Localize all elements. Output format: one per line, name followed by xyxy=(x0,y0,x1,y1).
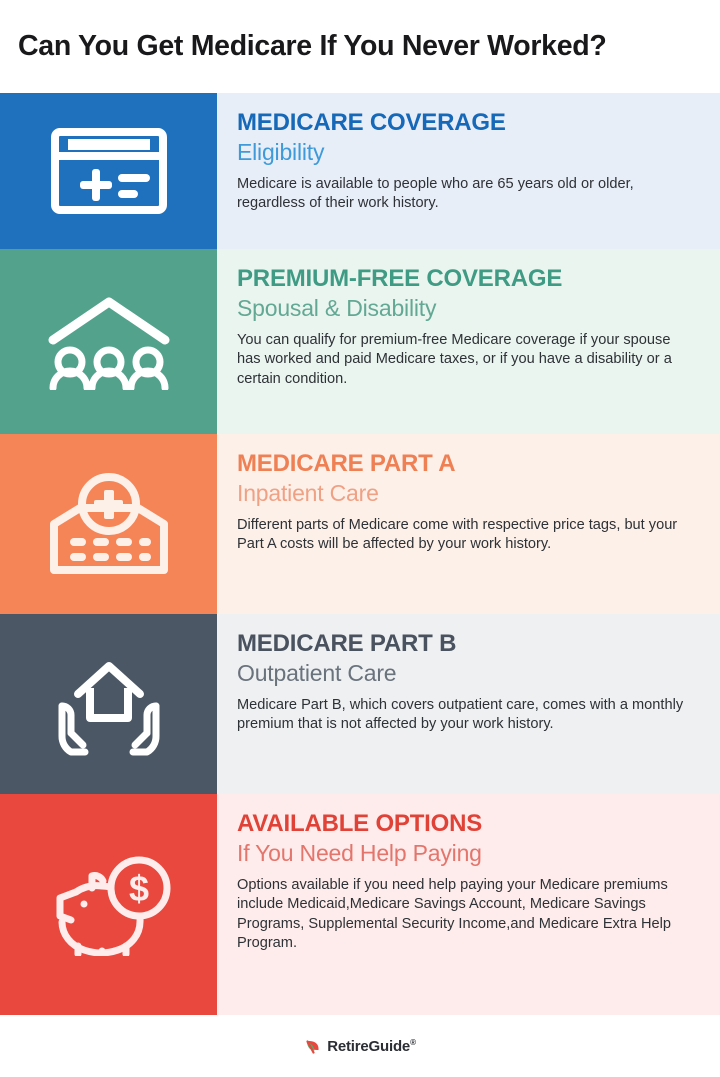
section-subheading-4: If You Need Help Paying xyxy=(237,839,694,867)
section-heading-2: MEDICARE PART A xyxy=(237,451,694,478)
content-panel-1: PREMIUM-FREE COVERAGE Spousal & Disabili… xyxy=(217,249,720,434)
section-subheading-0: Eligibility xyxy=(237,138,694,166)
leaf-icon xyxy=(304,1038,321,1055)
icon-panel-2 xyxy=(0,434,217,614)
infographic-root: Can You Get Medicare If You Never Worked… xyxy=(0,0,720,1077)
content-panel-0: MEDICARE COVERAGE Eligibility Medicare i… xyxy=(217,93,720,249)
section-subheading-3: Outpatient Care xyxy=(237,659,694,687)
icon-panel-1 xyxy=(0,249,217,434)
section-body-0: Medicare is available to people who are … xyxy=(237,175,687,214)
family-under-roof-icon xyxy=(45,294,173,390)
section-body-3: Medicare Part B, which covers outpatient… xyxy=(237,696,687,735)
icon-panel-3 xyxy=(0,614,217,794)
logo-text: RetireGuide® xyxy=(327,1038,416,1055)
icon-panel-0 xyxy=(0,93,217,249)
content-panel-4: AVAILABLE OPTIONS If You Need Help Payin… xyxy=(217,794,720,1015)
page-title: Can You Get Medicare If You Never Worked… xyxy=(18,31,606,62)
section-premium-free-coverage: PREMIUM-FREE COVERAGE Spousal & Disabili… xyxy=(0,249,720,434)
medicare-card-icon xyxy=(50,126,168,216)
retireguide-logo[interactable]: RetireGuide® xyxy=(304,1038,416,1055)
section-heading-0: MEDICARE COVERAGE xyxy=(237,110,694,137)
house-in-hands-icon xyxy=(48,652,170,756)
section-heading-4: AVAILABLE OPTIONS xyxy=(237,811,694,838)
footer: RetireGuide® xyxy=(0,1015,720,1077)
hospital-icon xyxy=(48,472,170,576)
section-medicare-part-a: MEDICARE PART A Inpatient Care Different… xyxy=(0,434,720,614)
piggy-bank-icon: $ xyxy=(46,854,172,956)
icon-panel-4: $ xyxy=(0,794,217,1015)
content-panel-3: MEDICARE PART B Outpatient Care Medicare… xyxy=(217,614,720,794)
registered-mark: ® xyxy=(410,1038,416,1047)
section-available-options: $ AVAILABLE OPTIONS If You Need Help Pay… xyxy=(0,794,720,1015)
section-medicare-coverage: MEDICARE COVERAGE Eligibility Medicare i… xyxy=(0,93,720,249)
section-subheading-2: Inpatient Care xyxy=(237,479,694,507)
content-panel-2: MEDICARE PART A Inpatient Care Different… xyxy=(217,434,720,614)
section-body-1: You can qualify for premium-free Medicar… xyxy=(237,331,687,389)
section-heading-1: PREMIUM-FREE COVERAGE xyxy=(237,266,694,293)
section-medicare-part-b: MEDICARE PART B Outpatient Care Medicare… xyxy=(0,614,720,794)
section-body-2: Different parts of Medicare come with re… xyxy=(237,516,687,555)
section-subheading-1: Spousal & Disability xyxy=(237,294,694,322)
svg-text:$: $ xyxy=(128,868,148,909)
title-bar: Can You Get Medicare If You Never Worked… xyxy=(0,0,720,93)
section-body-4: Options available if you need help payin… xyxy=(237,876,687,954)
section-heading-3: MEDICARE PART B xyxy=(237,631,694,658)
